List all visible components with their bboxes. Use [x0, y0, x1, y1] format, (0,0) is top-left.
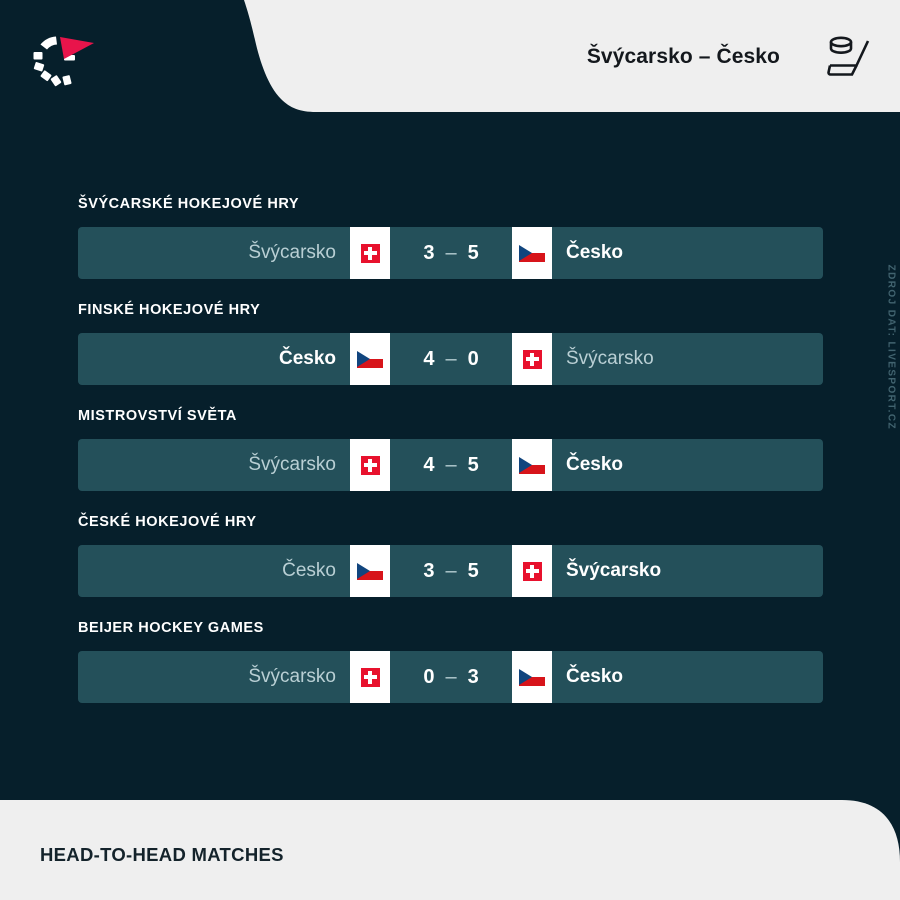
away-score: 5	[468, 560, 479, 583]
league-label: MISTROVSTVÍ SVĚTA	[78, 406, 823, 426]
home-flag-tile	[350, 333, 390, 385]
home-score: 3	[423, 560, 434, 583]
score: 3 – 5	[390, 227, 512, 279]
away-team-name: Česko	[552, 227, 823, 279]
flag-czechia-icon	[519, 245, 545, 262]
page-title: Švýcarsko – Česko	[587, 45, 780, 69]
league-label: ŠVÝCARSKÉ HOKEJOVÉ HRY	[78, 194, 823, 214]
match-row[interactable]: Česko 4 – 0 Švýcarsko	[78, 333, 823, 385]
flag-czechia-icon	[519, 457, 545, 474]
match-block: MISTROVSTVÍ SVĚTA Švýcarsko 4 – 5 Česko	[78, 406, 823, 491]
home-flag-tile	[350, 545, 390, 597]
flag-czechia-icon	[357, 563, 383, 580]
score: 4 – 5	[390, 439, 512, 491]
home-flag-tile	[350, 439, 390, 491]
score-separator: –	[445, 560, 456, 583]
away-score: 5	[468, 454, 479, 477]
home-team-name: Česko	[78, 545, 350, 597]
home-team-name: Švýcarsko	[78, 439, 350, 491]
header: Švýcarsko – Česko	[0, 0, 900, 118]
away-flag-tile	[512, 439, 552, 491]
home-score: 0	[423, 666, 434, 689]
home-flag-tile	[350, 651, 390, 703]
score-separator: –	[445, 242, 456, 265]
home-team-name: Švýcarsko	[78, 651, 350, 703]
flag-switzerland-icon	[523, 562, 542, 581]
match-block: FINSKÉ HOKEJOVÉ HRY Česko 4 – 0 Švýcarsk…	[78, 300, 823, 385]
footer-title: HEAD-TO-HEAD MATCHES	[40, 844, 284, 866]
footer: HEAD-TO-HEAD MATCHES	[0, 800, 900, 900]
score-separator: –	[445, 454, 456, 477]
away-score: 3	[468, 666, 479, 689]
home-team-name: Česko	[78, 333, 350, 385]
away-flag-tile	[512, 545, 552, 597]
infographic-card: Švýcarsko – Česko ŠVÝCARSKÉ HOKEJOVÉ HRY…	[0, 0, 900, 900]
home-team-name: Švýcarsko	[78, 227, 350, 279]
home-flag-tile	[350, 227, 390, 279]
away-flag-tile	[512, 333, 552, 385]
score: 0 – 3	[390, 651, 512, 703]
match-list: ŠVÝCARSKÉ HOKEJOVÉ HRY Švýcarsko 3 – 5 Č…	[0, 118, 900, 800]
away-flag-tile	[512, 227, 552, 279]
flag-switzerland-icon	[361, 668, 380, 687]
data-source-label: ZDROJ DAT: LIVESPORT.CZ	[885, 265, 896, 430]
score-separator: –	[445, 348, 456, 371]
match-row[interactable]: Švýcarsko 4 – 5 Česko	[78, 439, 823, 491]
match-block: BEIJER HOCKEY GAMES Švýcarsko 0 – 3 Česk…	[78, 618, 823, 703]
flag-czechia-icon	[357, 351, 383, 368]
flag-switzerland-icon	[523, 350, 542, 369]
away-team-name: Česko	[552, 651, 823, 703]
match-block: ČESKÉ HOKEJOVÉ HRY Česko 3 – 5 Švýcarsko	[78, 512, 823, 597]
flag-czechia-icon	[519, 669, 545, 686]
home-score: 3	[423, 242, 434, 265]
league-label: ČESKÉ HOKEJOVÉ HRY	[78, 512, 823, 532]
score-separator: –	[445, 666, 456, 689]
score: 4 – 0	[390, 333, 512, 385]
match-row[interactable]: Česko 3 – 5 Švýcarsko	[78, 545, 823, 597]
away-team-name: Švýcarsko	[552, 333, 823, 385]
match-row[interactable]: Švýcarsko 0 – 3 Česko	[78, 651, 823, 703]
league-label: BEIJER HOCKEY GAMES	[78, 618, 823, 638]
livesport-logo	[30, 28, 102, 90]
home-score: 4	[423, 348, 434, 371]
match-block: ŠVÝCARSKÉ HOKEJOVÉ HRY Švýcarsko 3 – 5 Č…	[78, 194, 823, 279]
score: 3 – 5	[390, 545, 512, 597]
flag-switzerland-icon	[361, 244, 380, 263]
away-score: 5	[468, 242, 479, 265]
away-team-name: Švýcarsko	[552, 545, 823, 597]
league-label: FINSKÉ HOKEJOVÉ HRY	[78, 300, 823, 320]
flag-switzerland-icon	[361, 456, 380, 475]
home-score: 4	[423, 454, 434, 477]
away-flag-tile	[512, 651, 552, 703]
away-score: 0	[468, 348, 479, 371]
away-team-name: Česko	[552, 439, 823, 491]
match-row[interactable]: Švýcarsko 3 – 5 Česko	[78, 227, 823, 279]
hockey-puck-stick-icon	[812, 32, 878, 84]
